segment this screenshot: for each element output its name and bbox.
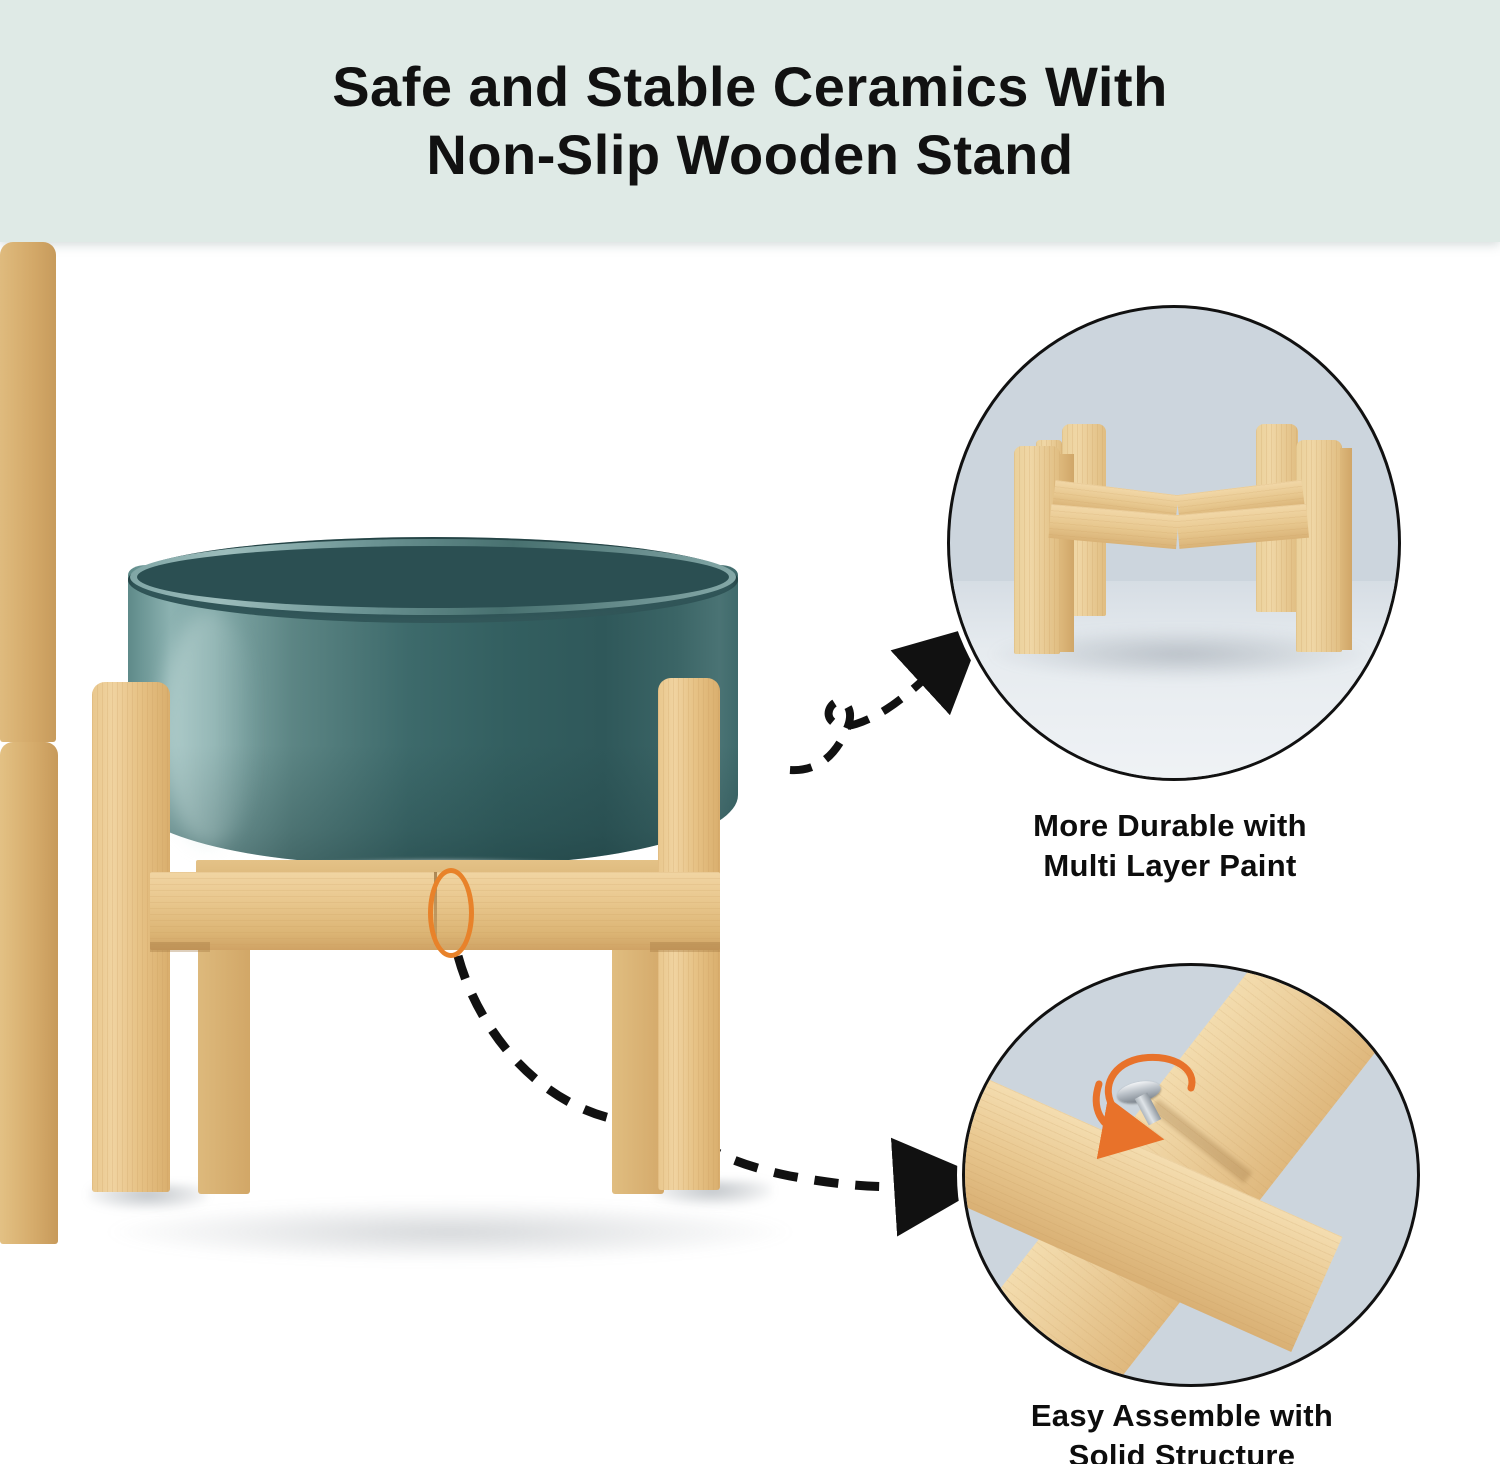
stand-leg-back-left: [198, 932, 250, 1194]
ceramic-bowl: [128, 537, 738, 892]
caption-assembly-line-2: Solid Structure: [952, 1436, 1412, 1464]
callout-caption-assembly: Easy Assemble with Solid Structure: [952, 1396, 1412, 1464]
bowl-rim: [130, 539, 736, 615]
header-banner: Safe and Stable Ceramics With Non-Slip W…: [0, 0, 1500, 242]
rotation-arrow-icon: [1065, 1022, 1255, 1182]
callout-inset-assembly: [962, 963, 1420, 1387]
product-photo: [0, 242, 880, 1464]
inset-leg-right-front-side: [1340, 448, 1352, 650]
stand-leg-back-right: [612, 932, 664, 1194]
floor-shadow: [110, 1202, 790, 1262]
center-joint-highlight-marker: [428, 868, 474, 958]
brace-notch-left: [150, 942, 210, 952]
callout-caption-durability: More Durable with Multi Layer Paint: [940, 806, 1400, 885]
stand-leg-front-right-side: [0, 742, 58, 1244]
callout-inset-durability: [947, 305, 1401, 781]
page-title-line-1: Safe and Stable Ceramics With: [332, 53, 1168, 121]
caption-assembly-line-1: Easy Assemble with: [952, 1396, 1412, 1436]
page-title-line-2: Non-Slip Wooden Stand: [426, 121, 1073, 189]
bowl-highlight: [162, 611, 258, 847]
brace-notch-right: [650, 942, 720, 952]
product-marketing-image: Safe and Stable Ceramics With Non-Slip W…: [0, 0, 1500, 1464]
caption-durability-line-2: Multi Layer Paint: [940, 846, 1400, 886]
stand-leg-front-left-side: [0, 242, 56, 742]
inset-leg-right-front: [1296, 440, 1342, 652]
caption-durability-line-1: More Durable with: [940, 806, 1400, 846]
inset-leg-left-front: [1014, 446, 1060, 654]
